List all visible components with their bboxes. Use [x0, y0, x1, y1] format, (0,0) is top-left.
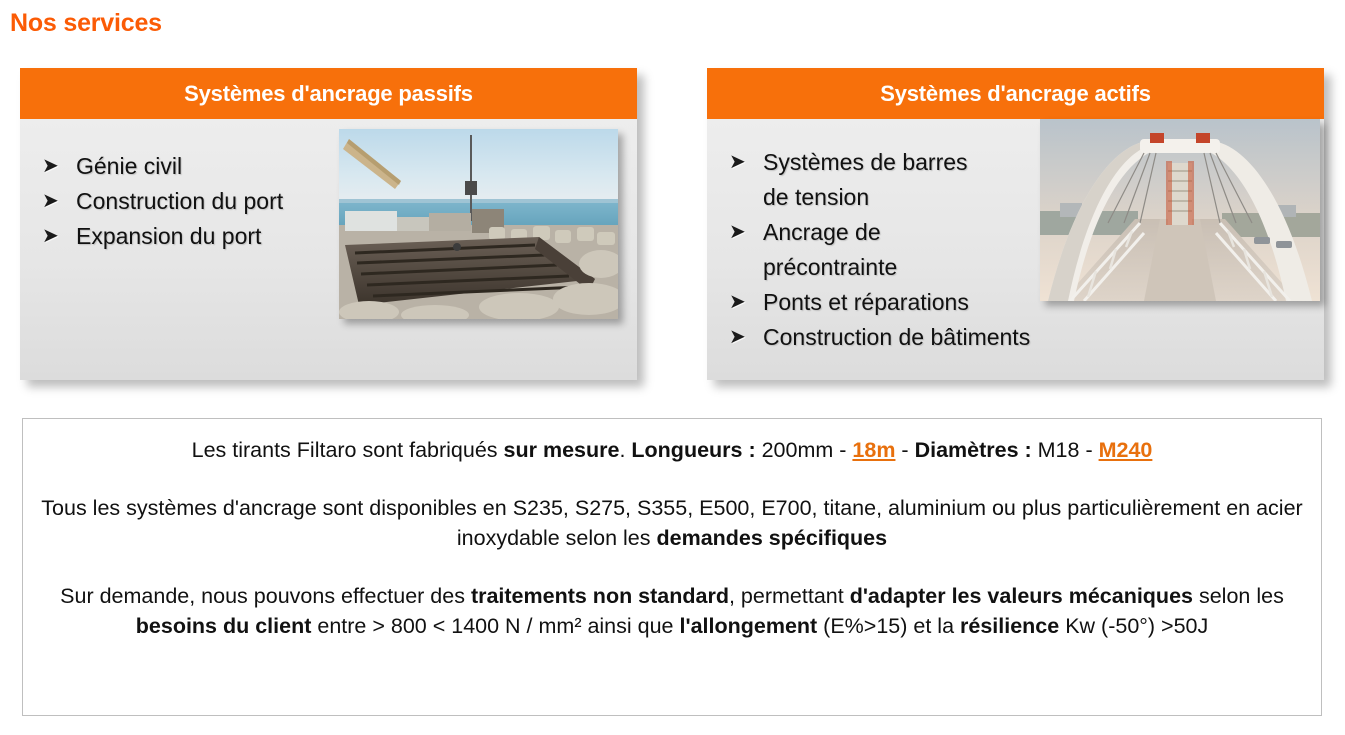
- arrow-bullet-icon: ➤: [42, 149, 76, 184]
- list-item-label: Ancrage de: [763, 215, 881, 250]
- text-segment-bold: résilience: [960, 614, 1059, 638]
- text-segment-bold: demandes spécifiques: [656, 526, 887, 550]
- text-segment: Kw (-50°) >50J: [1059, 614, 1208, 638]
- arrow-bullet-icon: ➤: [42, 219, 76, 254]
- highlight-diameter-max: M240: [1099, 438, 1153, 462]
- list-item: ➤ Génie civil: [42, 149, 342, 184]
- text-segment-bold: Longueurs :: [631, 438, 755, 462]
- text-segment: Sur demande, nous pouvons effectuer des: [60, 584, 471, 608]
- card-passive-body: ➤ Génie civil ➤ Construction du port ➤ E…: [20, 119, 637, 380]
- text-segment: Les tirants Filtaro sont fabriqués: [192, 438, 504, 462]
- description-paragraph-2: Tous les systèmes d'ancrage sont disponi…: [23, 493, 1321, 553]
- list-item-label: Systèmes de barres: [763, 145, 968, 180]
- port-construction-image: [339, 129, 618, 319]
- text-segment-bold: l'allongement: [679, 614, 817, 638]
- text-segment-bold: traitements non standard: [471, 584, 729, 608]
- text-segment: -: [895, 438, 914, 462]
- card-active-anchoring-systems: Systèmes d'ancrage actifs ➤ Systèmes de …: [707, 68, 1324, 380]
- text-segment-bold: sur mesure: [504, 438, 620, 462]
- highlight-length-max: 18m: [852, 438, 895, 462]
- arrow-bullet-icon: ➤: [729, 320, 763, 355]
- page-title: Nos services: [10, 9, 162, 38]
- list-item-label: Construction du port: [76, 184, 283, 219]
- active-services-list: ➤ Systèmes de barres de tension ➤ Ancrag…: [729, 145, 1039, 355]
- list-item-label: Construction de bâtiments: [763, 320, 1030, 355]
- description-paragraph-3: Sur demande, nous pouvons effectuer des …: [23, 581, 1321, 641]
- card-passive-header: Systèmes d'ancrage passifs: [20, 68, 637, 119]
- passive-services-list: ➤ Génie civil ➤ Construction du port ➤ E…: [42, 149, 342, 254]
- card-active-header: Systèmes d'ancrage actifs: [707, 68, 1324, 119]
- list-item-label: Expansion du port: [76, 219, 261, 254]
- card-active-body: ➤ Systèmes de barres de tension ➤ Ancrag…: [707, 119, 1324, 380]
- description-panel: Les tirants Filtaro sont fabriqués sur m…: [22, 418, 1322, 716]
- list-item: ➤ Ponts et réparations: [729, 285, 1039, 320]
- text-segment: , permettant: [729, 584, 850, 608]
- arrow-bullet-icon: ➤: [729, 285, 763, 320]
- arrow-bullet-icon: ➤: [42, 184, 76, 219]
- list-item-continuation: de tension: [729, 180, 1039, 215]
- text-segment: selon les: [1193, 584, 1284, 608]
- list-item-label: Génie civil: [76, 149, 182, 184]
- list-item-label: précontrainte: [763, 250, 897, 285]
- list-item-label: de tension: [763, 180, 869, 215]
- list-item: ➤ Systèmes de barres: [729, 145, 1039, 180]
- list-item: ➤ Construction de bâtiments: [729, 320, 1039, 355]
- list-item: ➤ Expansion du port: [42, 219, 342, 254]
- text-segment-bold: besoins du client: [136, 614, 312, 638]
- text-segment-bold: d'adapter les valeurs mécaniques: [850, 584, 1193, 608]
- text-segment: .: [619, 438, 631, 462]
- arrow-bullet-icon: ➤: [729, 145, 763, 180]
- text-segment: (E%>15) et la: [817, 614, 960, 638]
- text-segment: M18 -: [1032, 438, 1099, 462]
- port-construction-photo: [339, 129, 618, 319]
- card-passive-anchoring-systems: Systèmes d'ancrage passifs ➤ Génie civil…: [20, 68, 637, 380]
- list-item: ➤ Ancrage de: [729, 215, 1039, 250]
- description-paragraph-1: Les tirants Filtaro sont fabriqués sur m…: [23, 435, 1321, 465]
- list-item-continuation: précontrainte: [729, 250, 1039, 285]
- text-segment: entre > 800 < 1400 N / mm² ainsi que: [311, 614, 679, 638]
- text-segment: 200mm -: [756, 438, 853, 462]
- text-segment-bold: Diamètres :: [915, 438, 1032, 462]
- bridge-photo: [1040, 119, 1320, 301]
- arrow-bullet-icon: ➤: [729, 215, 763, 250]
- bridge-image: [1040, 119, 1320, 301]
- list-item: ➤ Construction du port: [42, 184, 342, 219]
- list-item-label: Ponts et réparations: [763, 285, 969, 320]
